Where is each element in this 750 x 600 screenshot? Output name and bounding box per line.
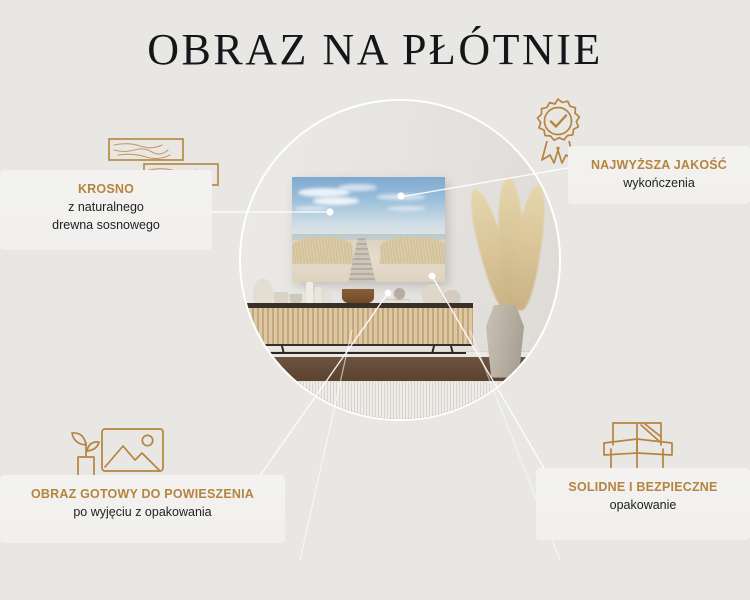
feature-headline: OBRAZ GOTOWY DO POWIESZENIA [14, 485, 271, 503]
feature-headline: SOLIDNE I BEZPIECZNE [550, 478, 736, 496]
tall-vase [486, 305, 524, 378]
cloud [387, 206, 427, 211]
canvas-artwork [292, 177, 445, 282]
cloud [313, 197, 359, 204]
feature-line2: wykończenia [582, 174, 736, 192]
feature-line3: drewna sosnowego [14, 216, 198, 234]
ceramic-vase [254, 279, 272, 304]
feature-line2: opakowanie [550, 496, 736, 514]
ceramic-pot [423, 284, 443, 305]
sideboard [247, 303, 473, 354]
cloud [295, 206, 329, 211]
candle [315, 287, 322, 304]
decor-sphere [394, 288, 405, 299]
dune-grass-left [292, 237, 353, 264]
sideboard-fluted-front [247, 308, 473, 346]
cloud [338, 184, 378, 191]
page-title: OBRAZ NA PŁÓTNIE [0, 24, 750, 75]
feature-headline: NAJWYŻSZA JAKOŚĆ [582, 156, 736, 174]
sideboard-legs [254, 346, 466, 354]
sideboard-decor [247, 276, 473, 305]
feature-line2: po wyjęciu z opakowania [14, 503, 271, 521]
room-scene [241, 101, 559, 419]
feature-card-krosno[interactable]: KROSNO z naturalnego drewna sosnowego [0, 170, 212, 250]
feature-card-jakosc[interactable]: NAJWYŻSZA JAKOŚĆ wykończenia [568, 146, 750, 204]
feature-card-opakowanie[interactable]: SOLIDNE I BEZPIECZNE opakowanie [536, 468, 750, 540]
feature-line2: z naturalnego [14, 198, 198, 216]
rug [239, 381, 561, 421]
dune-grass-right [380, 237, 444, 264]
feature-card-gotowy[interactable]: OBRAZ GOTOWY DO POWIESZENIA po wyjęciu z… [0, 475, 285, 543]
feature-headline: KROSNO [14, 180, 198, 198]
candle [306, 282, 313, 305]
hero-circle [239, 99, 561, 421]
